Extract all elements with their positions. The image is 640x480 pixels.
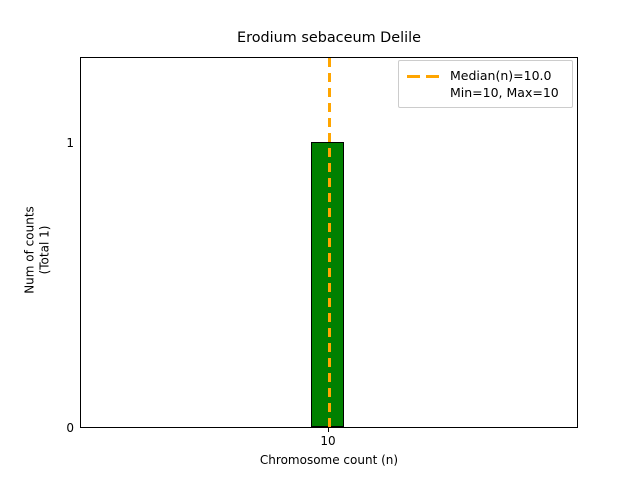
y-tick-label-1: 1	[66, 137, 74, 149]
legend-entry-median: Median(n)=10.0 Min=10, Max=10	[406, 67, 564, 101]
y-tick-mark-1	[80, 144, 81, 145]
x-tick-mark-10	[328, 428, 329, 432]
chart-figure: Erodium sebaceum Delile 0 1 10 Chromosom…	[0, 0, 640, 480]
y-axis-label: Num of counts (Total 1)	[23, 65, 53, 436]
legend-entry-label: Median(n)=10.0 Min=10, Max=10	[450, 67, 559, 101]
median-reference-line	[328, 58, 331, 427]
x-axis-label: Chromosome count (n)	[80, 453, 578, 467]
chart-legend: Median(n)=10.0 Min=10, Max=10	[398, 60, 573, 108]
x-tick-label-10: 10	[298, 434, 358, 448]
plot-area	[80, 57, 578, 428]
y-tick-label-0: 0	[66, 422, 74, 434]
chart-title: Erodium sebaceum Delile	[80, 30, 578, 47]
dashed-line-icon	[406, 70, 442, 82]
